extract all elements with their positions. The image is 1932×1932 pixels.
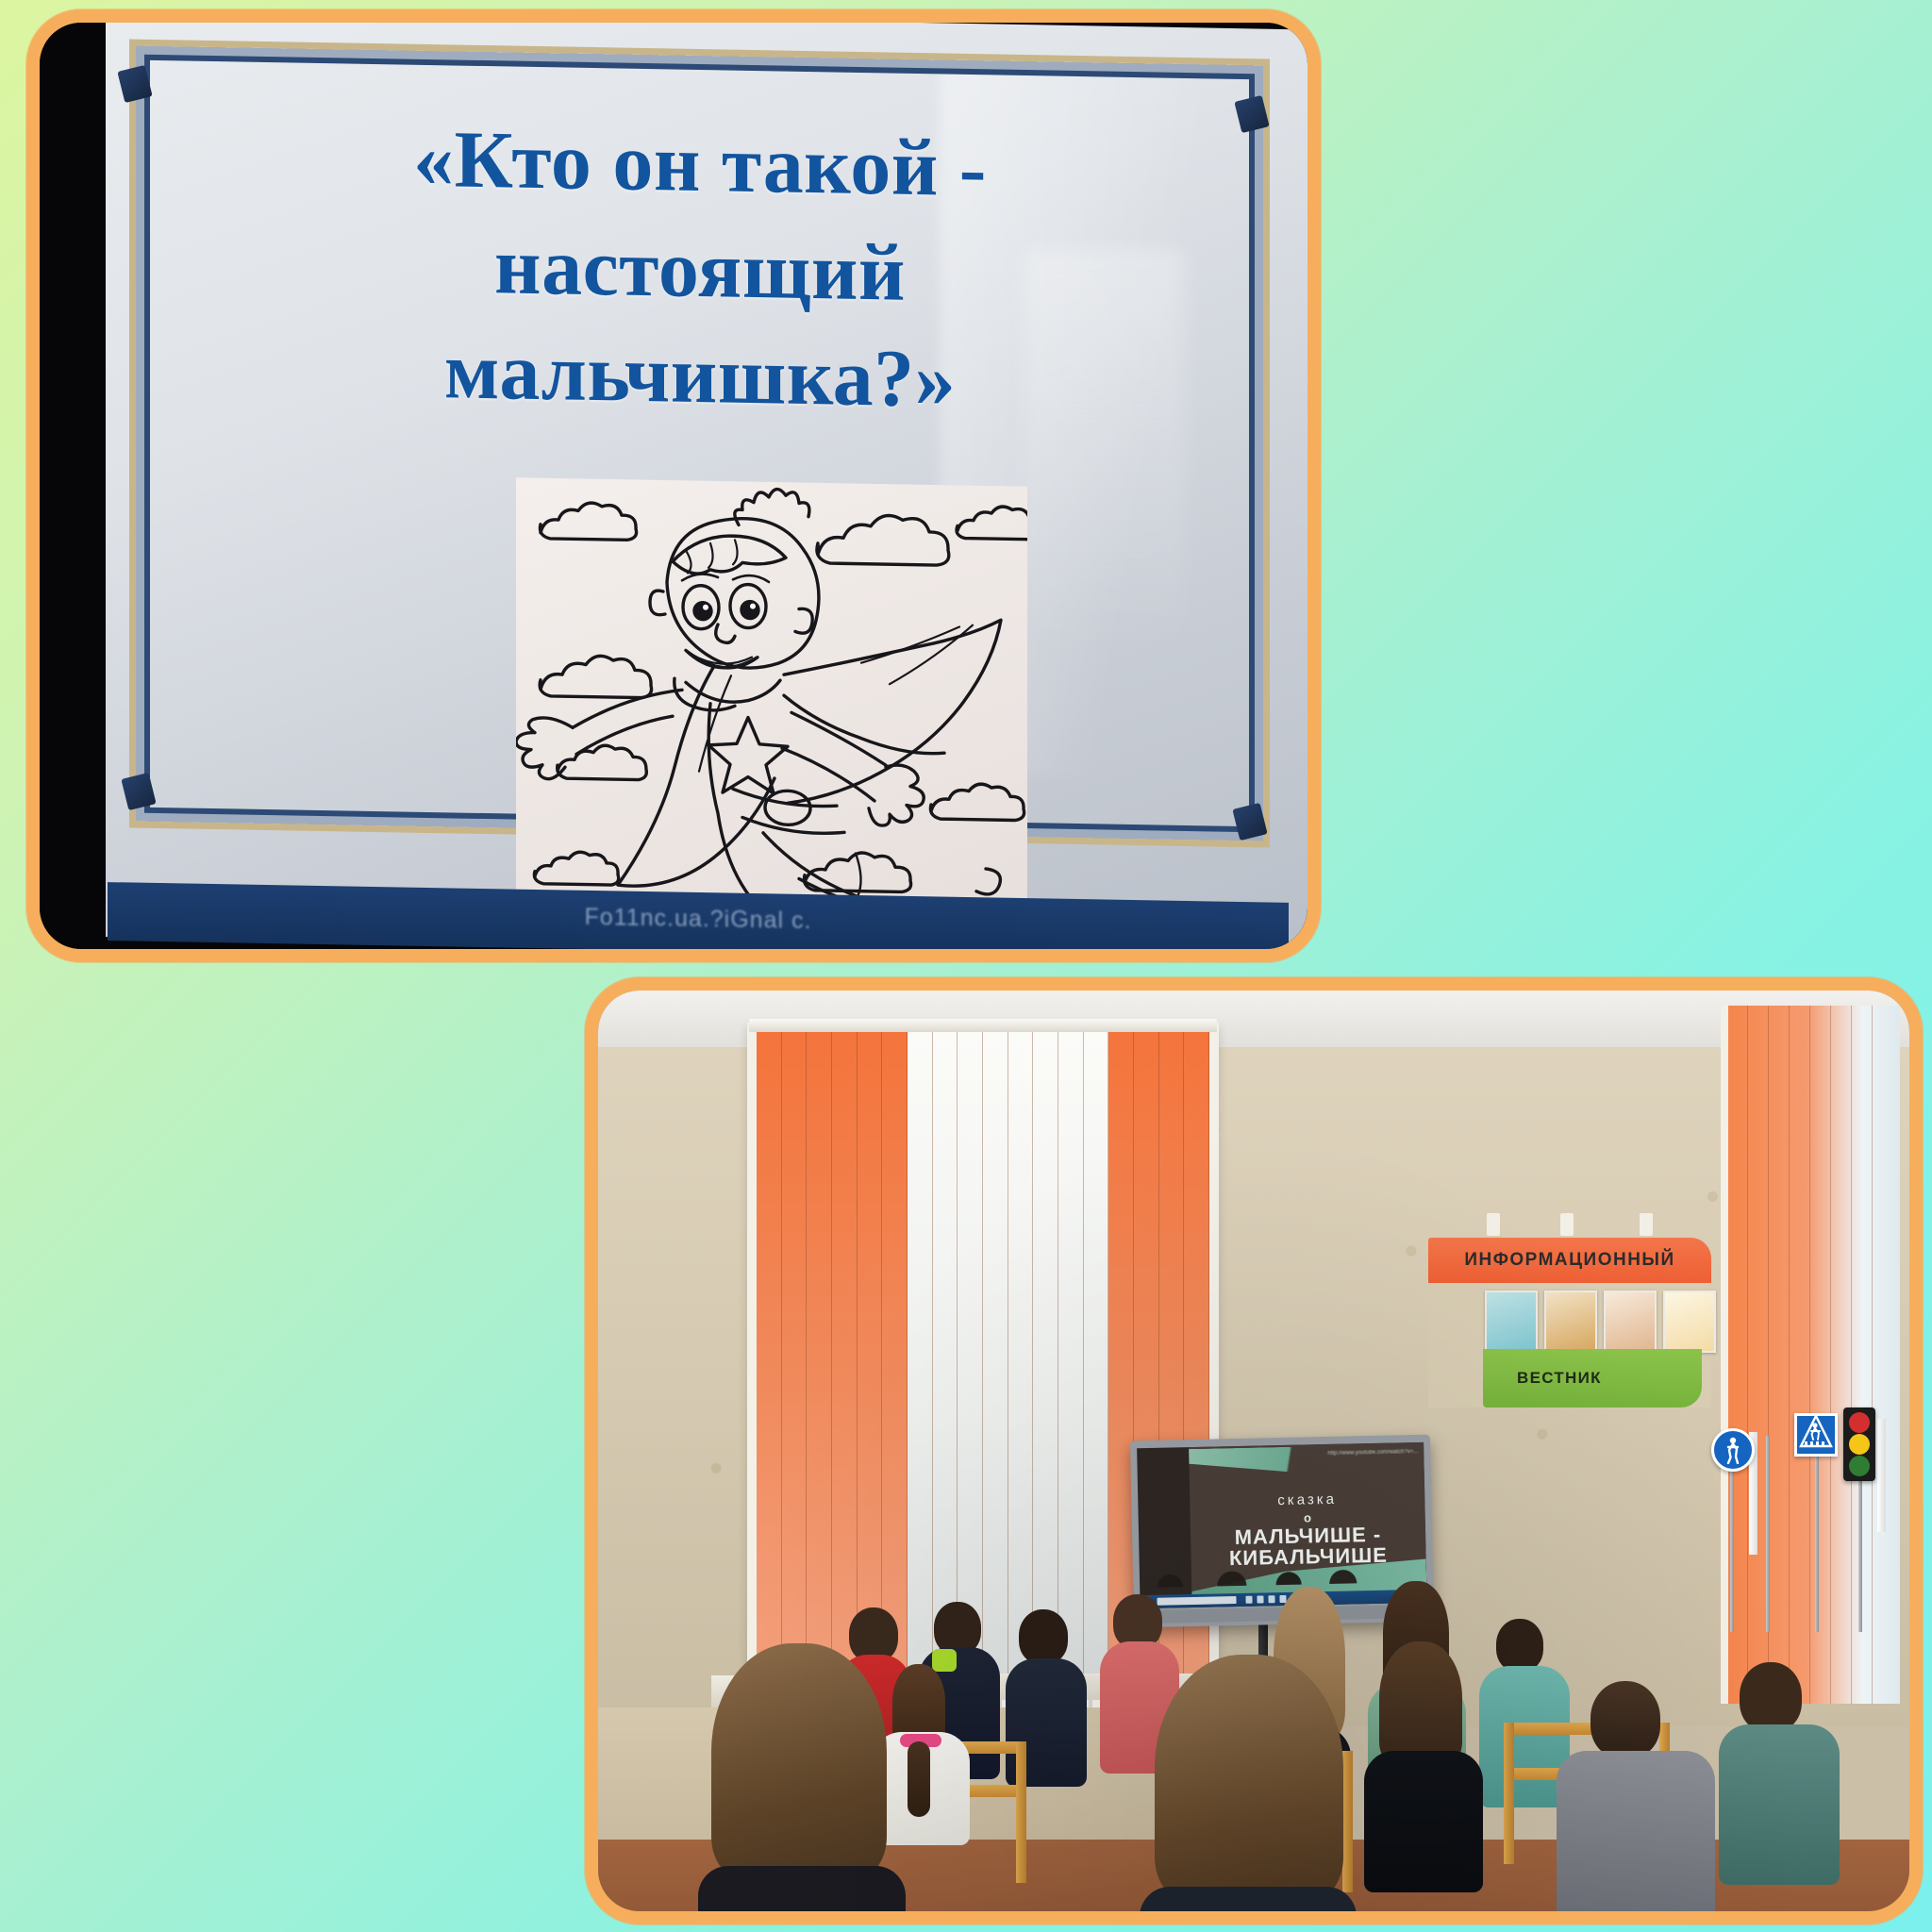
information-board: ИНФОРМАЦИОННЫЙ ВЕСТНИК [1428, 1238, 1711, 1407]
projector-slide-photo-inner: «Кто он такой - настоящий мальчишка?» [40, 23, 1307, 949]
board-header: ИНФОРМАЦИОННЫЙ [1428, 1238, 1711, 1283]
board-body: ВЕСТНИК [1428, 1283, 1711, 1407]
audience-group [598, 1468, 1909, 1911]
board-footer: ВЕСТНИК [1483, 1349, 1702, 1407]
board-lamp-left [1487, 1213, 1500, 1236]
slide-title-line-1: «Кто он такой - [228, 103, 1172, 225]
board-header-text: ИНФОРМАЦИОННЫЙ [1464, 1250, 1674, 1271]
projector-slide-photo: «Кто он такой - настоящий мальчишка?» [26, 9, 1321, 962]
superhero-boy-illustration [516, 477, 1027, 915]
slide-title: «Кто он такой - настоящий мальчишка?» [228, 103, 1172, 436]
pedestrian-zone-icon [1711, 1428, 1755, 1472]
traffic-light-red [1849, 1412, 1870, 1433]
poster-3 [1604, 1291, 1657, 1353]
poster-2 [1544, 1291, 1597, 1353]
pedestrian-crossing-icon [1794, 1413, 1838, 1457]
board-lamp-mid [1560, 1213, 1574, 1236]
slide-title-line-3: мальчишка?» [228, 314, 1172, 436]
classroom-photo-inner: ИНФОРМАЦИОННЫЙ ВЕСТНИК [598, 991, 1909, 1911]
board-footer-text: ВЕСТНИК [1517, 1369, 1602, 1388]
classroom-photo: ИНФОРМАЦИОННЫЙ ВЕСТНИК [585, 977, 1923, 1924]
board-lamp-right [1640, 1213, 1653, 1236]
traffic-light-yellow [1849, 1434, 1870, 1455]
poster-1 [1485, 1291, 1538, 1353]
projector-status-text: Fo11nc.ua.?iGnal c. [585, 904, 812, 935]
board-posters [1485, 1291, 1716, 1353]
slide-title-line-2: настоящий [228, 208, 1172, 330]
poster-4 [1663, 1291, 1716, 1353]
blind-rail [749, 1019, 1217, 1032]
